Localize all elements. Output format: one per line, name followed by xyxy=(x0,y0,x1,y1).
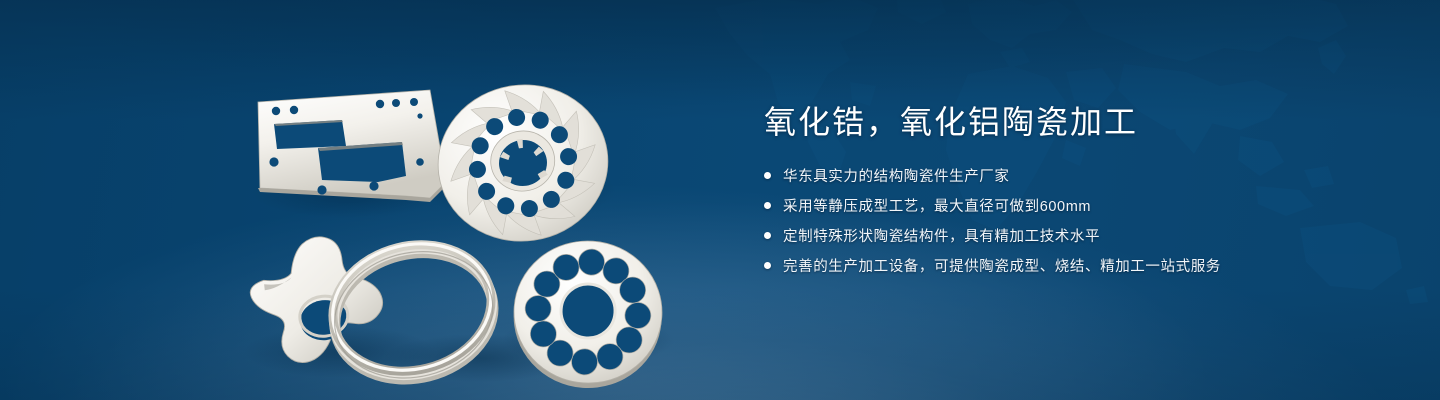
ceramic-products-photo xyxy=(230,40,700,380)
feature-item: 采用等静压成型工艺，最大直径可做到600mm xyxy=(764,195,1384,216)
bullet-dot-icon xyxy=(764,262,771,269)
feature-item: 定制特殊形状陶瓷结构件，具有精加工技术水平 xyxy=(764,225,1384,246)
banner-headline: 氧化锆，氧化铝陶瓷加工 xyxy=(764,104,1384,141)
feature-text: 完善的生产加工设备，可提供陶瓷成型、烧结、精加工一站式服务 xyxy=(783,255,1221,276)
ceramic-processing-banner: 氧化锆，氧化铝陶瓷加工 华东具实力的结构陶瓷件生产厂家 采用等静压成型工艺，最大… xyxy=(0,0,1440,400)
bullet-dot-icon xyxy=(764,202,771,209)
bullet-dot-icon xyxy=(764,172,771,179)
feature-text: 华东具实力的结构陶瓷件生产厂家 xyxy=(783,165,1010,186)
bullet-dot-icon xyxy=(764,232,771,239)
ceramic-plate-with-cutouts xyxy=(258,90,446,202)
feature-item: 华东具实力的结构陶瓷件生产厂家 xyxy=(764,165,1384,186)
feature-item: 完善的生产加工设备，可提供陶瓷成型、烧结、精加工一站式服务 xyxy=(764,255,1384,276)
banner-text-block: 氧化锆，氧化铝陶瓷加工 华东具实力的结构陶瓷件生产厂家 采用等静压成型工艺，最大… xyxy=(764,104,1384,276)
ceramic-impeller-disc xyxy=(428,74,618,252)
feature-text: 采用等静压成型工艺，最大直径可做到600mm xyxy=(783,195,1091,216)
banner-feature-list: 华东具实力的结构陶瓷件生产厂家 采用等静压成型工艺，最大直径可做到600mm 定… xyxy=(764,165,1384,276)
feature-text: 定制特殊形状陶瓷结构件，具有精加工技术水平 xyxy=(783,225,1100,246)
